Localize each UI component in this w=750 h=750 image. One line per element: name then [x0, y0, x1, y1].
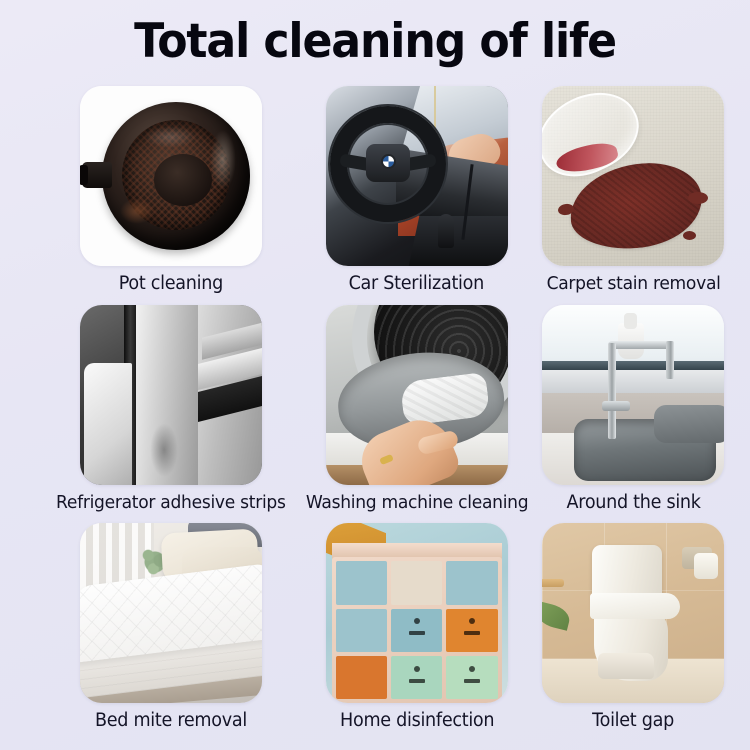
- caption-washing-machine-cleaning: Washing machine cleaning: [305, 492, 527, 513]
- grid-item-toilet-gap[interactable]: Toilet gap: [542, 523, 725, 742]
- feature-grid: Pot cleaning: [50, 86, 700, 742]
- thumbnail-car-sterilization[interactable]: [326, 86, 508, 266]
- thumbnail-pot-cleaning[interactable]: [80, 86, 262, 266]
- poster-root: Total cleaning of life Pot cleaning: [0, 0, 750, 750]
- grid-item-refrigerator-adhesive-strips[interactable]: Refrigerator adhesive strips: [50, 305, 292, 524]
- caption-toilet-gap: Toilet gap: [592, 710, 674, 731]
- grid-item-carpet-stain-removal[interactable]: Carpet stain removal: [542, 86, 725, 305]
- toilet-photo-icon: [542, 523, 724, 703]
- caption-carpet-stain-removal: Carpet stain removal: [546, 273, 720, 294]
- thumbnail-toilet-gap[interactable]: [542, 523, 724, 703]
- carpet-stain-photo-icon: [542, 86, 724, 266]
- thumbnail-refrigerator-adhesive-strips[interactable]: [80, 305, 262, 485]
- page-title: Total cleaning of life: [23, 18, 728, 65]
- kids-shelf-photo-icon: [326, 523, 508, 703]
- refrigerator-seal-photo-icon: [80, 305, 262, 485]
- thumbnail-bed-mite-removal[interactable]: [80, 523, 262, 703]
- caption-car-sterilization: Car Sterilization: [349, 273, 484, 294]
- caption-bed-mite-removal: Bed mite removal: [95, 710, 247, 731]
- car-interior-photo-icon: [326, 86, 508, 266]
- caption-refrigerator-adhesive-strips: Refrigerator adhesive strips: [56, 492, 286, 513]
- washing-machine-photo-icon: [326, 305, 508, 485]
- caption-home-disinfection: Home disinfection: [340, 710, 494, 731]
- grid-item-washing-machine-cleaning[interactable]: Washing machine cleaning: [300, 305, 534, 524]
- grid-item-bed-mite-removal[interactable]: Bed mite removal: [50, 523, 292, 742]
- grid-item-car-sterilization[interactable]: Car Sterilization: [300, 86, 534, 305]
- caption-pot-cleaning: Pot cleaning: [119, 273, 223, 294]
- thumbnail-carpet-stain-removal[interactable]: [542, 86, 724, 266]
- thumbnail-home-disinfection[interactable]: [326, 523, 508, 703]
- thumbnail-washing-machine-cleaning[interactable]: [326, 305, 508, 485]
- thumbnail-around-the-sink[interactable]: [542, 305, 724, 485]
- grid-item-pot-cleaning[interactable]: Pot cleaning: [50, 86, 292, 305]
- pot-photo-icon: [80, 86, 262, 266]
- grid-item-home-disinfection[interactable]: Home disinfection: [300, 523, 534, 742]
- mattress-photo-icon: [80, 523, 262, 703]
- kitchen-sink-photo-icon: [542, 305, 724, 485]
- caption-around-the-sink: Around the sink: [566, 492, 700, 513]
- grid-item-around-the-sink[interactable]: Around the sink: [542, 305, 725, 524]
